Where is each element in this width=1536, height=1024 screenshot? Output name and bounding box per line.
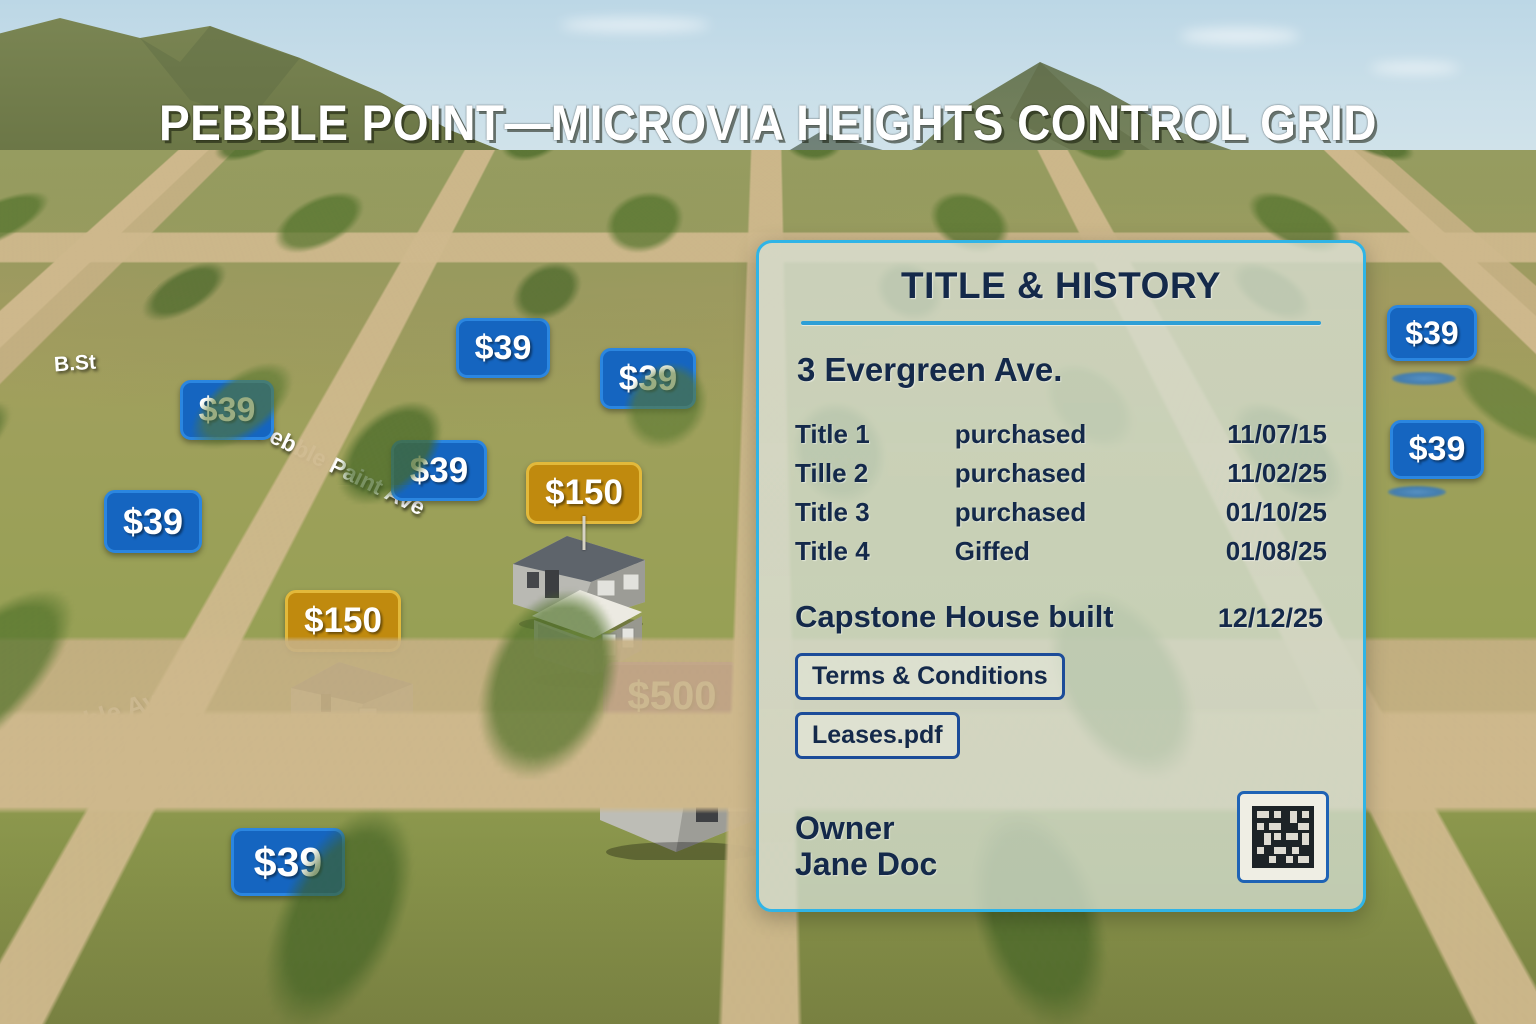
- price-marker[interactable]: $39: [231, 828, 345, 896]
- history-table: Title 1 purchased 11/07/15 Tille 2 purch…: [795, 415, 1327, 571]
- owner-label: Owner: [795, 811, 937, 847]
- panel-divider: [801, 321, 1321, 325]
- price-marker[interactable]: $39: [1390, 420, 1484, 479]
- page-title: PEBBLE POINT—MICROVIA HEIGHTS CONTROL GR…: [61, 94, 1474, 152]
- price-marker-label: $39: [1390, 420, 1484, 479]
- owner-name: Jane Doc: [795, 847, 937, 883]
- history-action: purchased: [907, 454, 1176, 493]
- history-date: 01/10/25: [1175, 493, 1327, 532]
- table-row: Title 4 Giffed 01/08/25: [795, 532, 1327, 571]
- history-action: purchased: [907, 493, 1176, 532]
- history-title: Title 3: [795, 493, 907, 532]
- table-row: Tille 2 purchased 11/02/25: [795, 454, 1327, 493]
- price-marker-label: $39: [1387, 305, 1477, 361]
- qr-code-icon[interactable]: [1237, 791, 1329, 883]
- price-marker-label: $39: [104, 490, 202, 553]
- title-history-panel: TITLE & HISTORY 3 Evergreen Ave. Title 1…: [756, 240, 1366, 912]
- history-date: 11/02/25: [1175, 454, 1327, 493]
- history-action: purchased: [907, 415, 1176, 454]
- price-marker[interactable]: $500: [603, 662, 741, 730]
- history-title: Title 1: [795, 415, 907, 454]
- history-action: Giffed: [907, 532, 1176, 571]
- property-address: 3 Evergreen Ave.: [797, 351, 1327, 389]
- capstone-row: Capstone House built 12/12/25: [795, 599, 1327, 635]
- price-marker-label: $39: [456, 318, 550, 378]
- price-marker[interactable]: $39: [600, 348, 696, 409]
- terms-and-conditions-button[interactable]: Terms & Conditions: [795, 653, 1065, 700]
- history-date: 11/07/15: [1175, 415, 1327, 454]
- water-puddle: [1388, 486, 1446, 498]
- price-marker[interactable]: $150: [526, 462, 642, 524]
- price-marker-label: $39: [231, 828, 345, 896]
- street-label-b-st: B.St: [53, 351, 97, 378]
- table-row: Title 3 purchased 01/10/25: [795, 493, 1327, 532]
- price-marker[interactable]: $39: [1387, 305, 1477, 361]
- price-marker-label: $150: [526, 462, 642, 524]
- price-marker[interactable]: $39: [391, 440, 487, 501]
- price-marker-label: $39: [600, 348, 696, 409]
- history-title: Tille 2: [795, 454, 907, 493]
- price-marker[interactable]: $39: [104, 490, 202, 553]
- price-marker[interactable]: $39: [456, 318, 550, 378]
- price-marker[interactable]: $150: [285, 590, 401, 652]
- history-title: Title 4: [795, 532, 907, 571]
- table-row: Title 1 purchased 11/07/15: [795, 415, 1327, 454]
- price-marker[interactable]: $39: [180, 380, 274, 440]
- capstone-date: 12/12/25: [1218, 603, 1327, 634]
- price-marker-label: $39: [180, 380, 274, 440]
- house-model: [285, 640, 425, 755]
- price-marker-label: $500: [603, 662, 741, 730]
- leases-pdf-button[interactable]: Leases.pdf: [795, 712, 960, 759]
- scene-root: PEBBLE POINT—MICROVIA HEIGHTS CONTROL GR…: [0, 0, 1536, 1024]
- house-model: [590, 720, 770, 865]
- panel-heading: TITLE & HISTORY: [795, 265, 1327, 307]
- history-date: 01/08/25: [1175, 532, 1327, 571]
- owner-block: Owner Jane Doc: [795, 811, 937, 883]
- price-marker-label: $39: [391, 440, 487, 501]
- water-puddle: [1392, 372, 1456, 385]
- price-marker-label: $150: [285, 590, 401, 652]
- capstone-label: Capstone House built: [795, 599, 1114, 635]
